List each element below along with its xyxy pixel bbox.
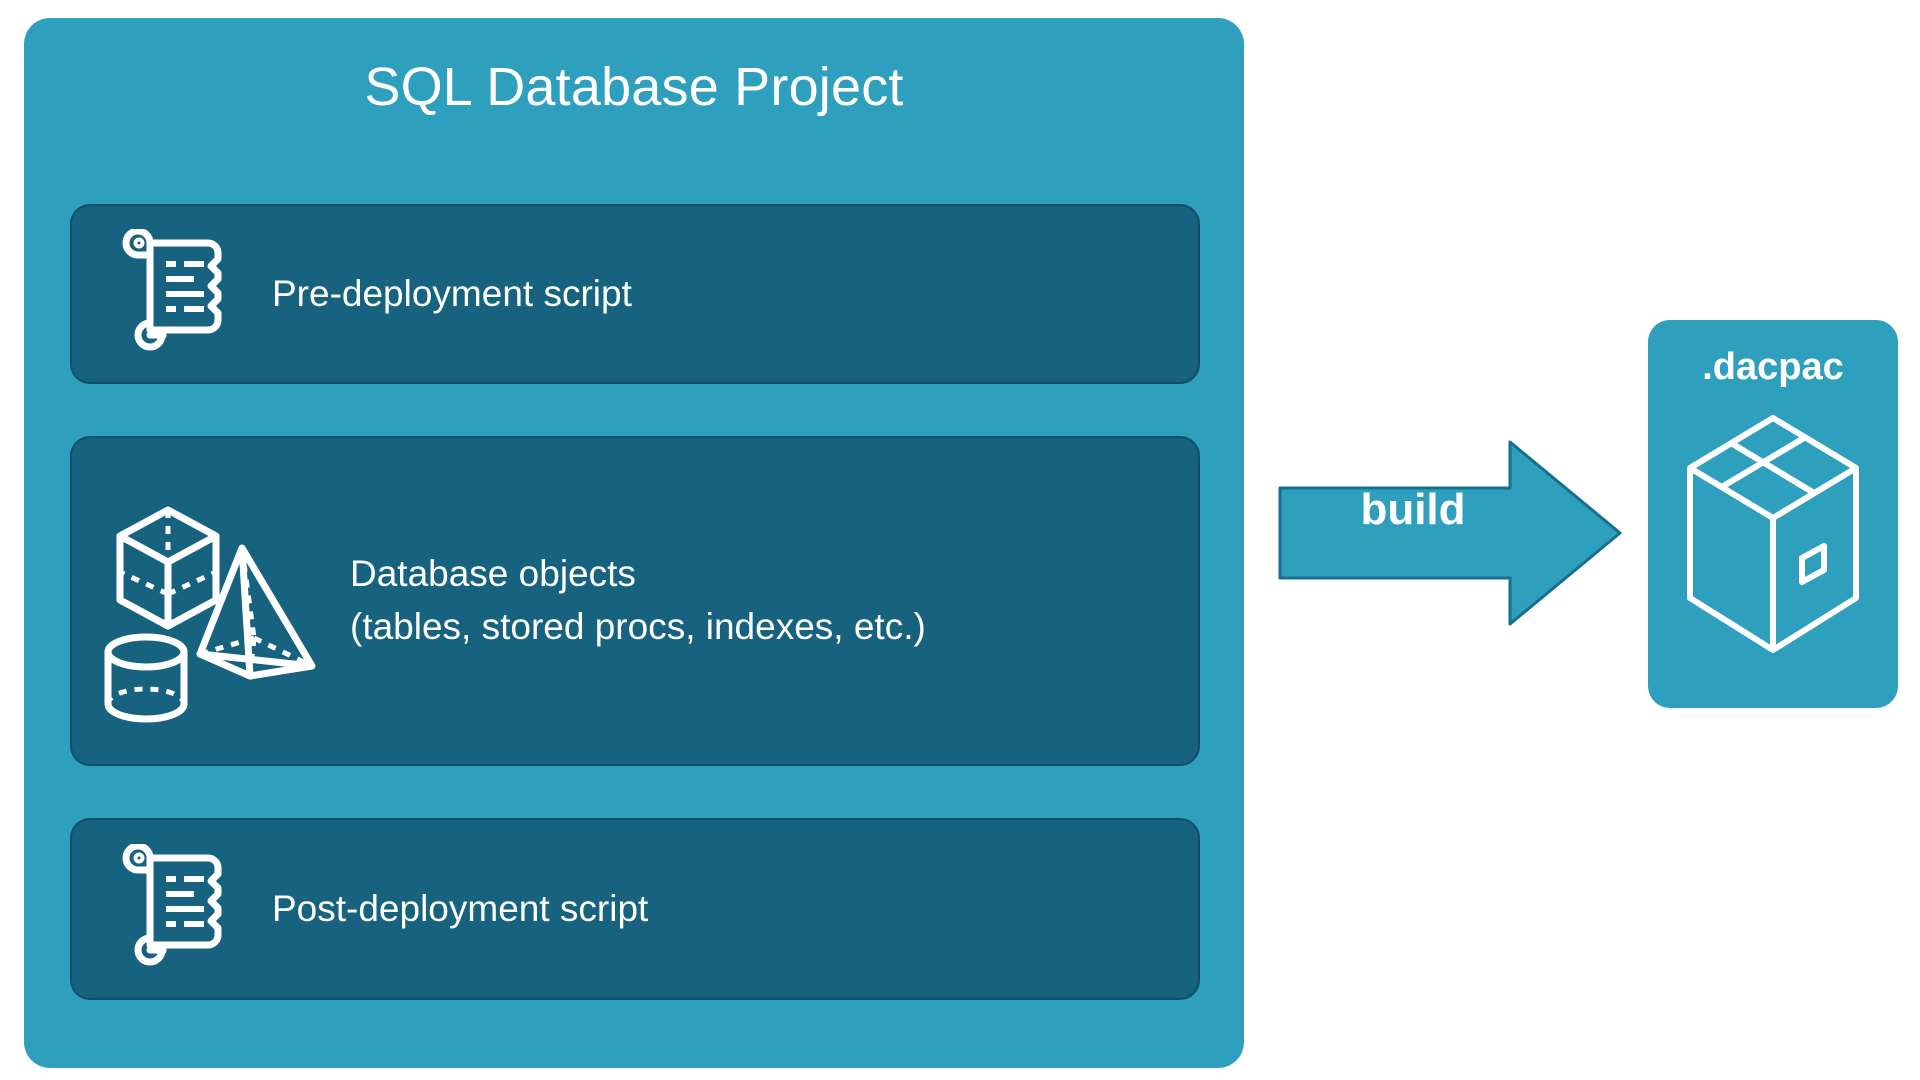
build-arrow-icon bbox=[1278, 440, 1622, 626]
panel-label-database-objects: Database objects (tables, stored procs, … bbox=[350, 548, 926, 653]
panel-label-post-deployment: Post-deployment script bbox=[272, 883, 648, 936]
sql-database-project-container: SQL Database Project bbox=[24, 18, 1244, 1068]
dacpac-title: .dacpac bbox=[1648, 346, 1898, 389]
cube-icon bbox=[120, 510, 216, 626]
dacpac-output-card[interactable]: .dacpac bbox=[1648, 320, 1898, 708]
scroll-icon bbox=[82, 229, 272, 359]
page-title: SQL Database Project bbox=[24, 58, 1244, 117]
scroll-icon bbox=[82, 844, 272, 974]
panel-post-deployment-script[interactable]: Post-deployment script bbox=[70, 818, 1200, 1000]
panel-pre-deployment-script[interactable]: Pre-deployment script bbox=[70, 204, 1200, 384]
cylinder-icon bbox=[108, 637, 184, 719]
database-objects-icon-group bbox=[80, 476, 350, 726]
panel-database-objects[interactable]: Database objects (tables, stored procs, … bbox=[70, 436, 1200, 766]
package-box-icon bbox=[1678, 410, 1868, 685]
diagram-canvas: SQL Database Project bbox=[0, 0, 1920, 1080]
panel-label-pre-deployment: Pre-deployment script bbox=[272, 268, 632, 321]
